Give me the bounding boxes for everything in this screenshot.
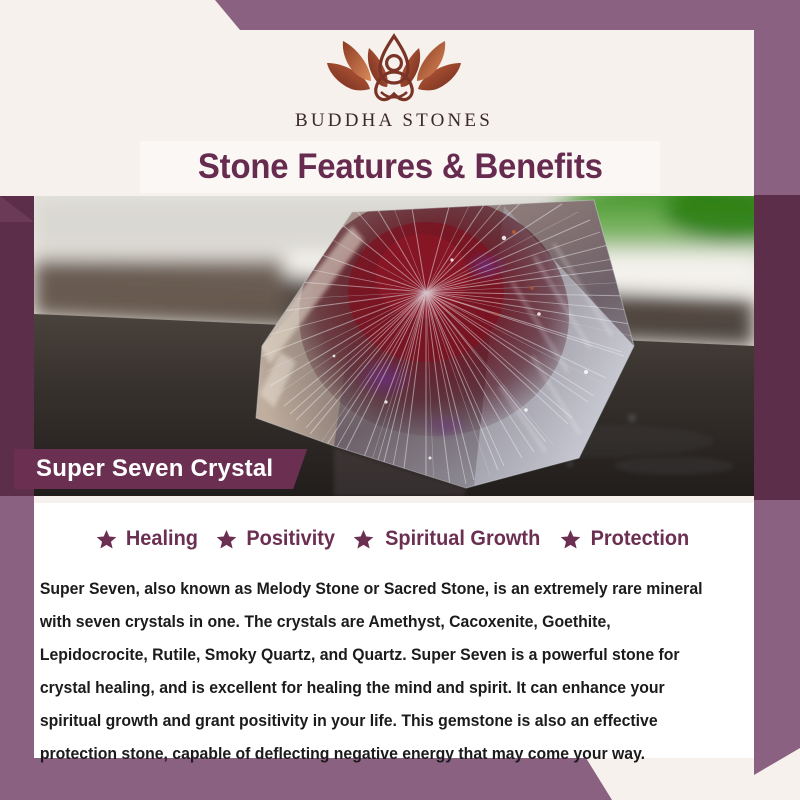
benefit-item-healing: Healing xyxy=(96,527,200,551)
page-title: Stone Features & Benefits xyxy=(198,147,603,187)
star-icon xyxy=(560,529,581,550)
benefits-row: Healing Positivity Spiritual Growth Prot… xyxy=(34,515,754,563)
star-icon xyxy=(96,529,117,550)
frame-band-left-light xyxy=(0,496,34,784)
frame-band-right-foot xyxy=(754,500,800,775)
benefit-label: Protection xyxy=(591,527,690,551)
benefit-label: Positivity xyxy=(246,527,335,551)
benefit-item-positivity: Positivity xyxy=(216,527,337,551)
brand-wordmark: BUDDHA STONES xyxy=(295,110,493,132)
frame-band-right-upper xyxy=(754,0,800,500)
title-banner: Stone Features & Benefits xyxy=(140,141,660,193)
star-icon xyxy=(353,529,374,550)
lotus-meditation-icon xyxy=(319,30,469,108)
benefit-item-spiritual-growth: Spiritual Growth xyxy=(353,527,544,551)
stone-name-banner: Super Seven Crystal xyxy=(14,449,307,489)
frame-band-top xyxy=(0,0,800,30)
infographic-root: BUDDHA STONES Stone Features & Benefits xyxy=(0,0,800,800)
brand-header: BUDDHA STONES xyxy=(34,30,754,140)
content-card: Healing Positivity Spiritual Growth Prot… xyxy=(34,503,754,758)
benefit-label: Spiritual Growth xyxy=(385,527,540,551)
description-paragraph: Super Seven, also known as Melody Stone … xyxy=(34,573,732,771)
benefit-label: Healing xyxy=(126,527,198,551)
star-icon xyxy=(216,529,237,550)
frame-band-right-lower xyxy=(754,195,800,500)
stone-name-label: Super Seven Crystal xyxy=(36,455,273,483)
benefit-item-protection: Protection xyxy=(560,527,692,551)
